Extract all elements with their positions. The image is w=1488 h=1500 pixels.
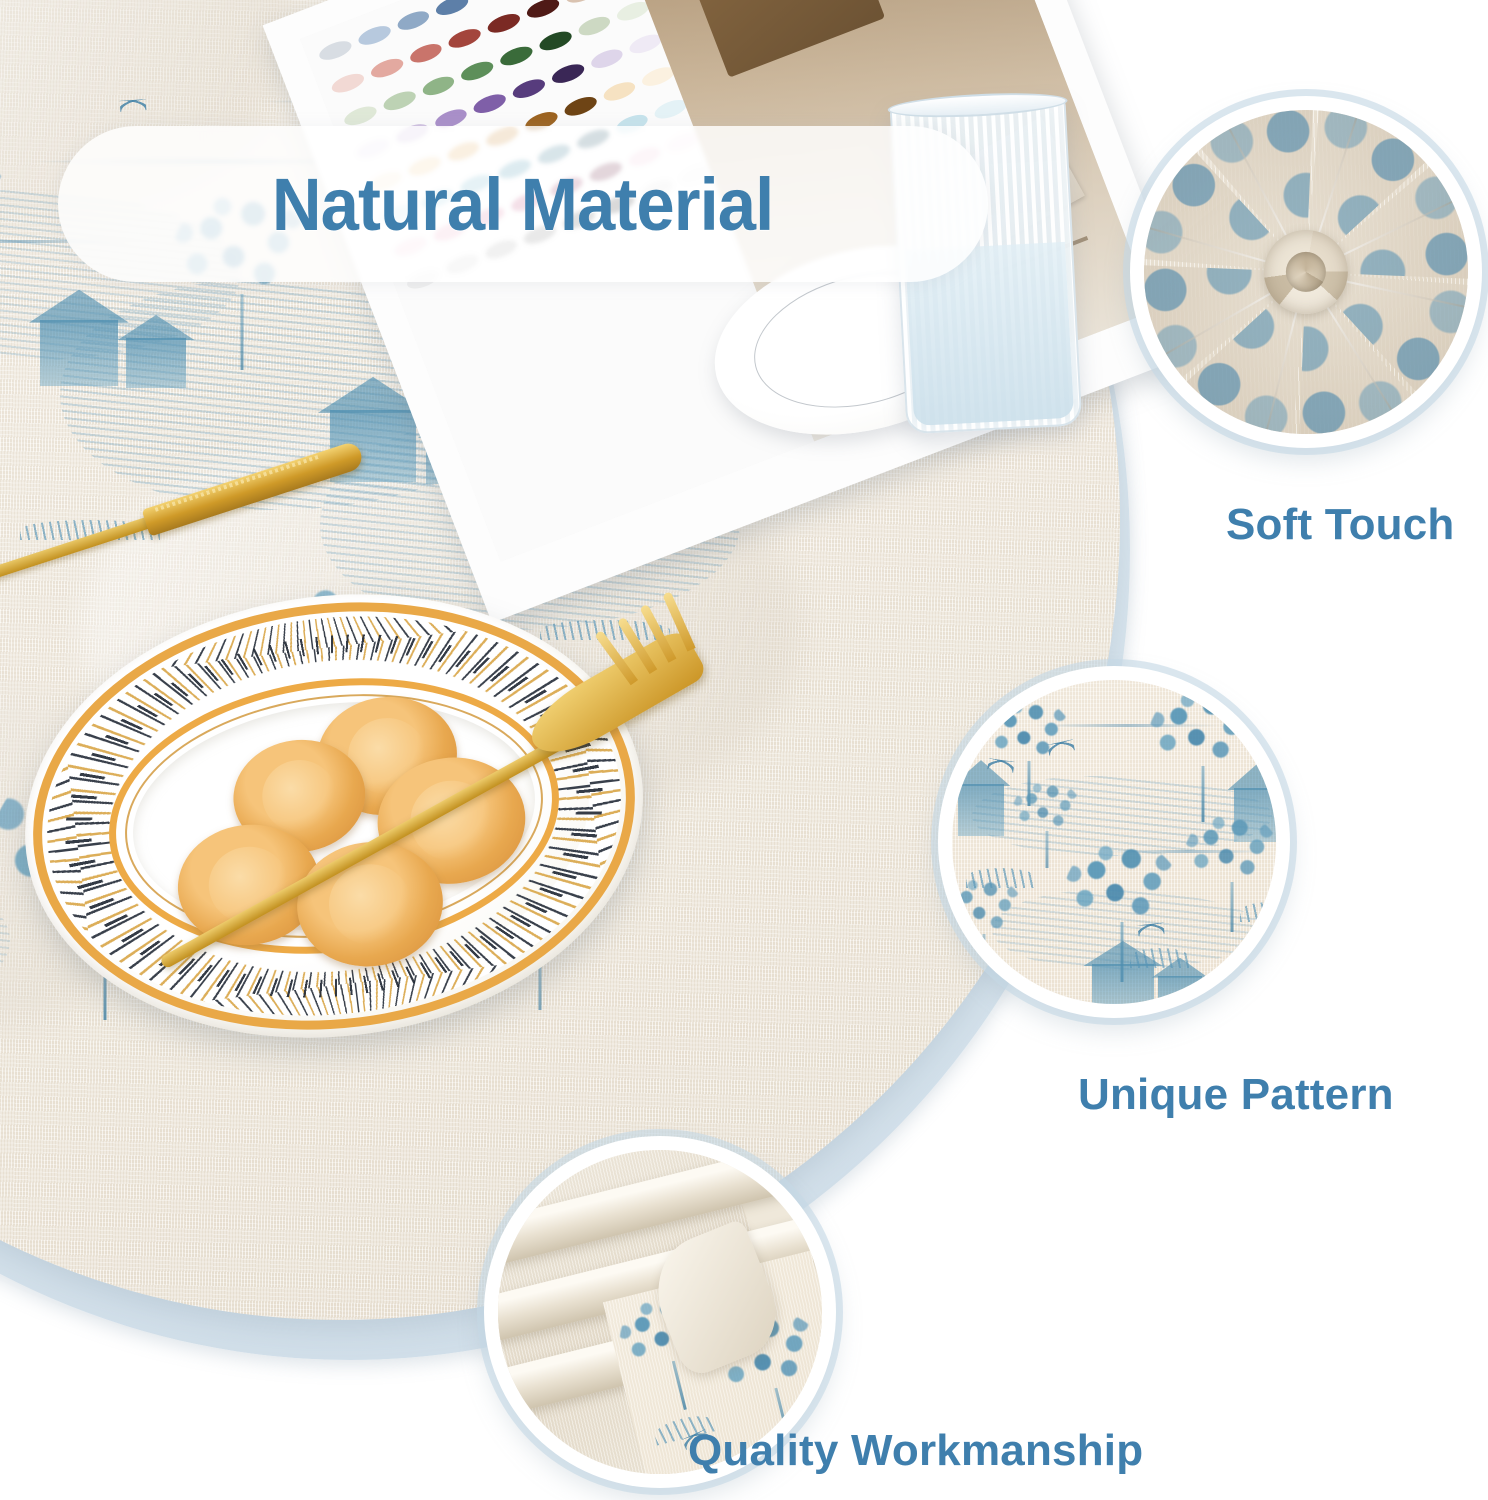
- color-swatch: [498, 43, 535, 69]
- color-swatch: [524, 0, 561, 21]
- color-swatch: [471, 91, 508, 117]
- toile-de-jouy-print: [952, 680, 1276, 1004]
- color-swatch: [356, 23, 393, 49]
- color-swatch: [407, 40, 444, 66]
- feature-soft-touch: Soft Touch: [1130, 96, 1482, 448]
- title-banner: Natural Material: [58, 126, 988, 282]
- color-swatch: [395, 8, 432, 34]
- color-swatch: [549, 61, 586, 87]
- feature-unique-pattern: Unique Pattern: [938, 666, 1290, 1018]
- color-swatch: [510, 76, 547, 102]
- color-swatch: [368, 55, 405, 81]
- color-swatch: [473, 0, 510, 4]
- color-swatch: [420, 73, 457, 99]
- unique-pattern-circle: [938, 666, 1290, 1018]
- color-swatch: [434, 0, 471, 19]
- color-swatch: [588, 46, 625, 72]
- product-feature-image: Natural Material: [0, 0, 1488, 1500]
- color-swatch: [485, 10, 522, 36]
- feature-label-soft-touch: Soft Touch: [1226, 500, 1454, 550]
- color-swatch: [317, 37, 354, 63]
- page-title: Natural Material: [272, 162, 773, 247]
- color-swatch: [576, 13, 613, 39]
- color-swatch: [601, 78, 638, 104]
- color-swatch: [381, 88, 418, 114]
- color-swatch: [446, 25, 483, 51]
- feature-quality-workmanship: Quality Workmanship: [484, 1136, 836, 1488]
- color-swatch: [562, 93, 599, 119]
- color-swatch: [563, 0, 600, 6]
- color-swatch: [459, 58, 496, 84]
- feature-label-unique-pattern: Unique Pattern: [1078, 1070, 1394, 1120]
- soft-touch-circle: [1130, 96, 1482, 448]
- color-swatch: [537, 28, 574, 54]
- color-swatch: [329, 70, 366, 96]
- feature-label-quality-workmanship: Quality Workmanship: [688, 1426, 1143, 1476]
- twisted-fabric-rosette: [1144, 110, 1468, 434]
